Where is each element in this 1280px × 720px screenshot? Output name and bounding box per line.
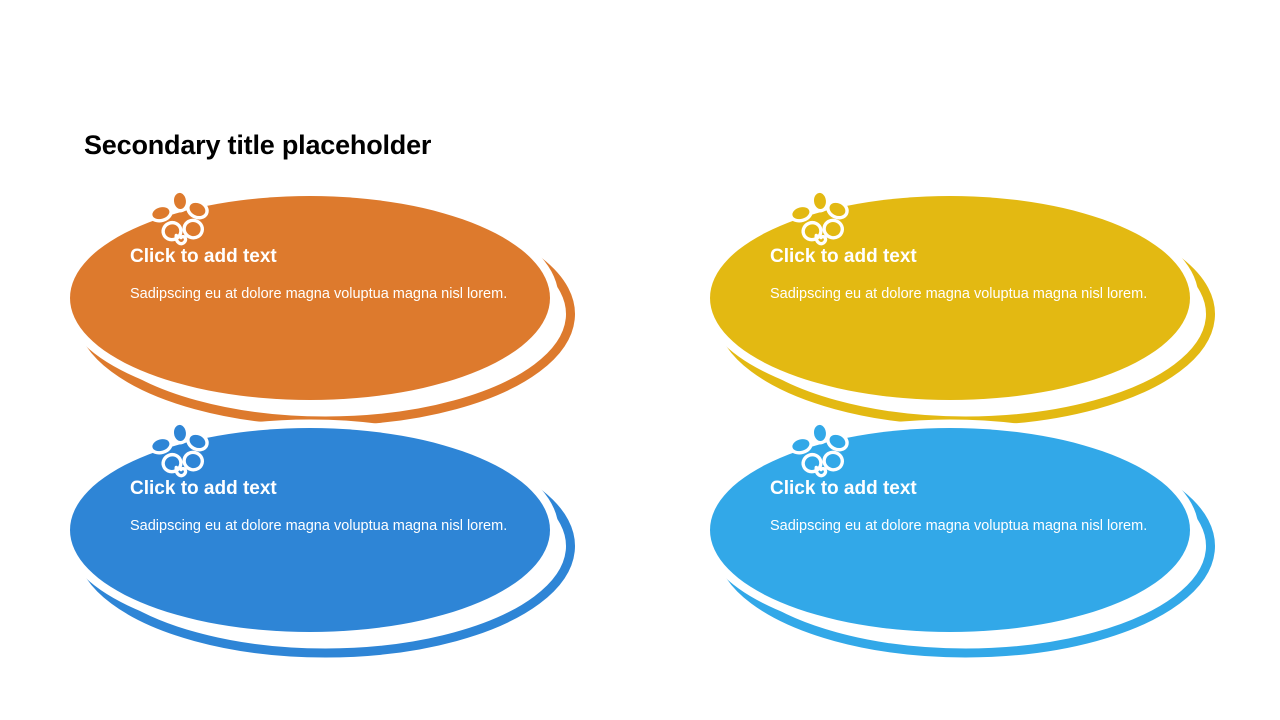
card-yellow-heading[interactable]: Click to add text xyxy=(770,246,1148,269)
card-orange-text: Click to add text Sadipscing eu at dolor… xyxy=(130,246,508,306)
card-blue-light-heading[interactable]: Click to add text xyxy=(770,478,1148,501)
card-blue-dark-body[interactable]: Sadipscing eu at dolore magna voluptua m… xyxy=(130,515,508,538)
card-blue-light-text: Click to add text Sadipscing eu at dolor… xyxy=(770,478,1148,538)
card-blue-light[interactable]: Click to add text Sadipscing eu at dolor… xyxy=(702,410,1222,660)
card-blue-dark[interactable]: Click to add text Sadipscing eu at dolor… xyxy=(62,410,582,660)
page-title: Secondary title placeholder xyxy=(84,131,431,161)
card-orange-body[interactable]: Sadipscing eu at dolore magna voluptua m… xyxy=(130,283,508,306)
card-blue-light-body[interactable]: Sadipscing eu at dolore magna voluptua m… xyxy=(770,515,1148,538)
card-blue-dark-heading[interactable]: Click to add text xyxy=(130,478,508,501)
card-orange[interactable]: Click to add text Sadipscing eu at dolor… xyxy=(62,178,582,428)
card-yellow-text: Click to add text Sadipscing eu at dolor… xyxy=(770,246,1148,306)
card-blue-dark-text: Click to add text Sadipscing eu at dolor… xyxy=(130,478,508,538)
card-yellow[interactable]: Click to add text Sadipscing eu at dolor… xyxy=(702,178,1222,428)
card-orange-heading[interactable]: Click to add text xyxy=(130,246,508,269)
slide-canvas: Secondary title placeholder xyxy=(0,0,1280,720)
card-yellow-body[interactable]: Sadipscing eu at dolore magna voluptua m… xyxy=(770,283,1148,306)
